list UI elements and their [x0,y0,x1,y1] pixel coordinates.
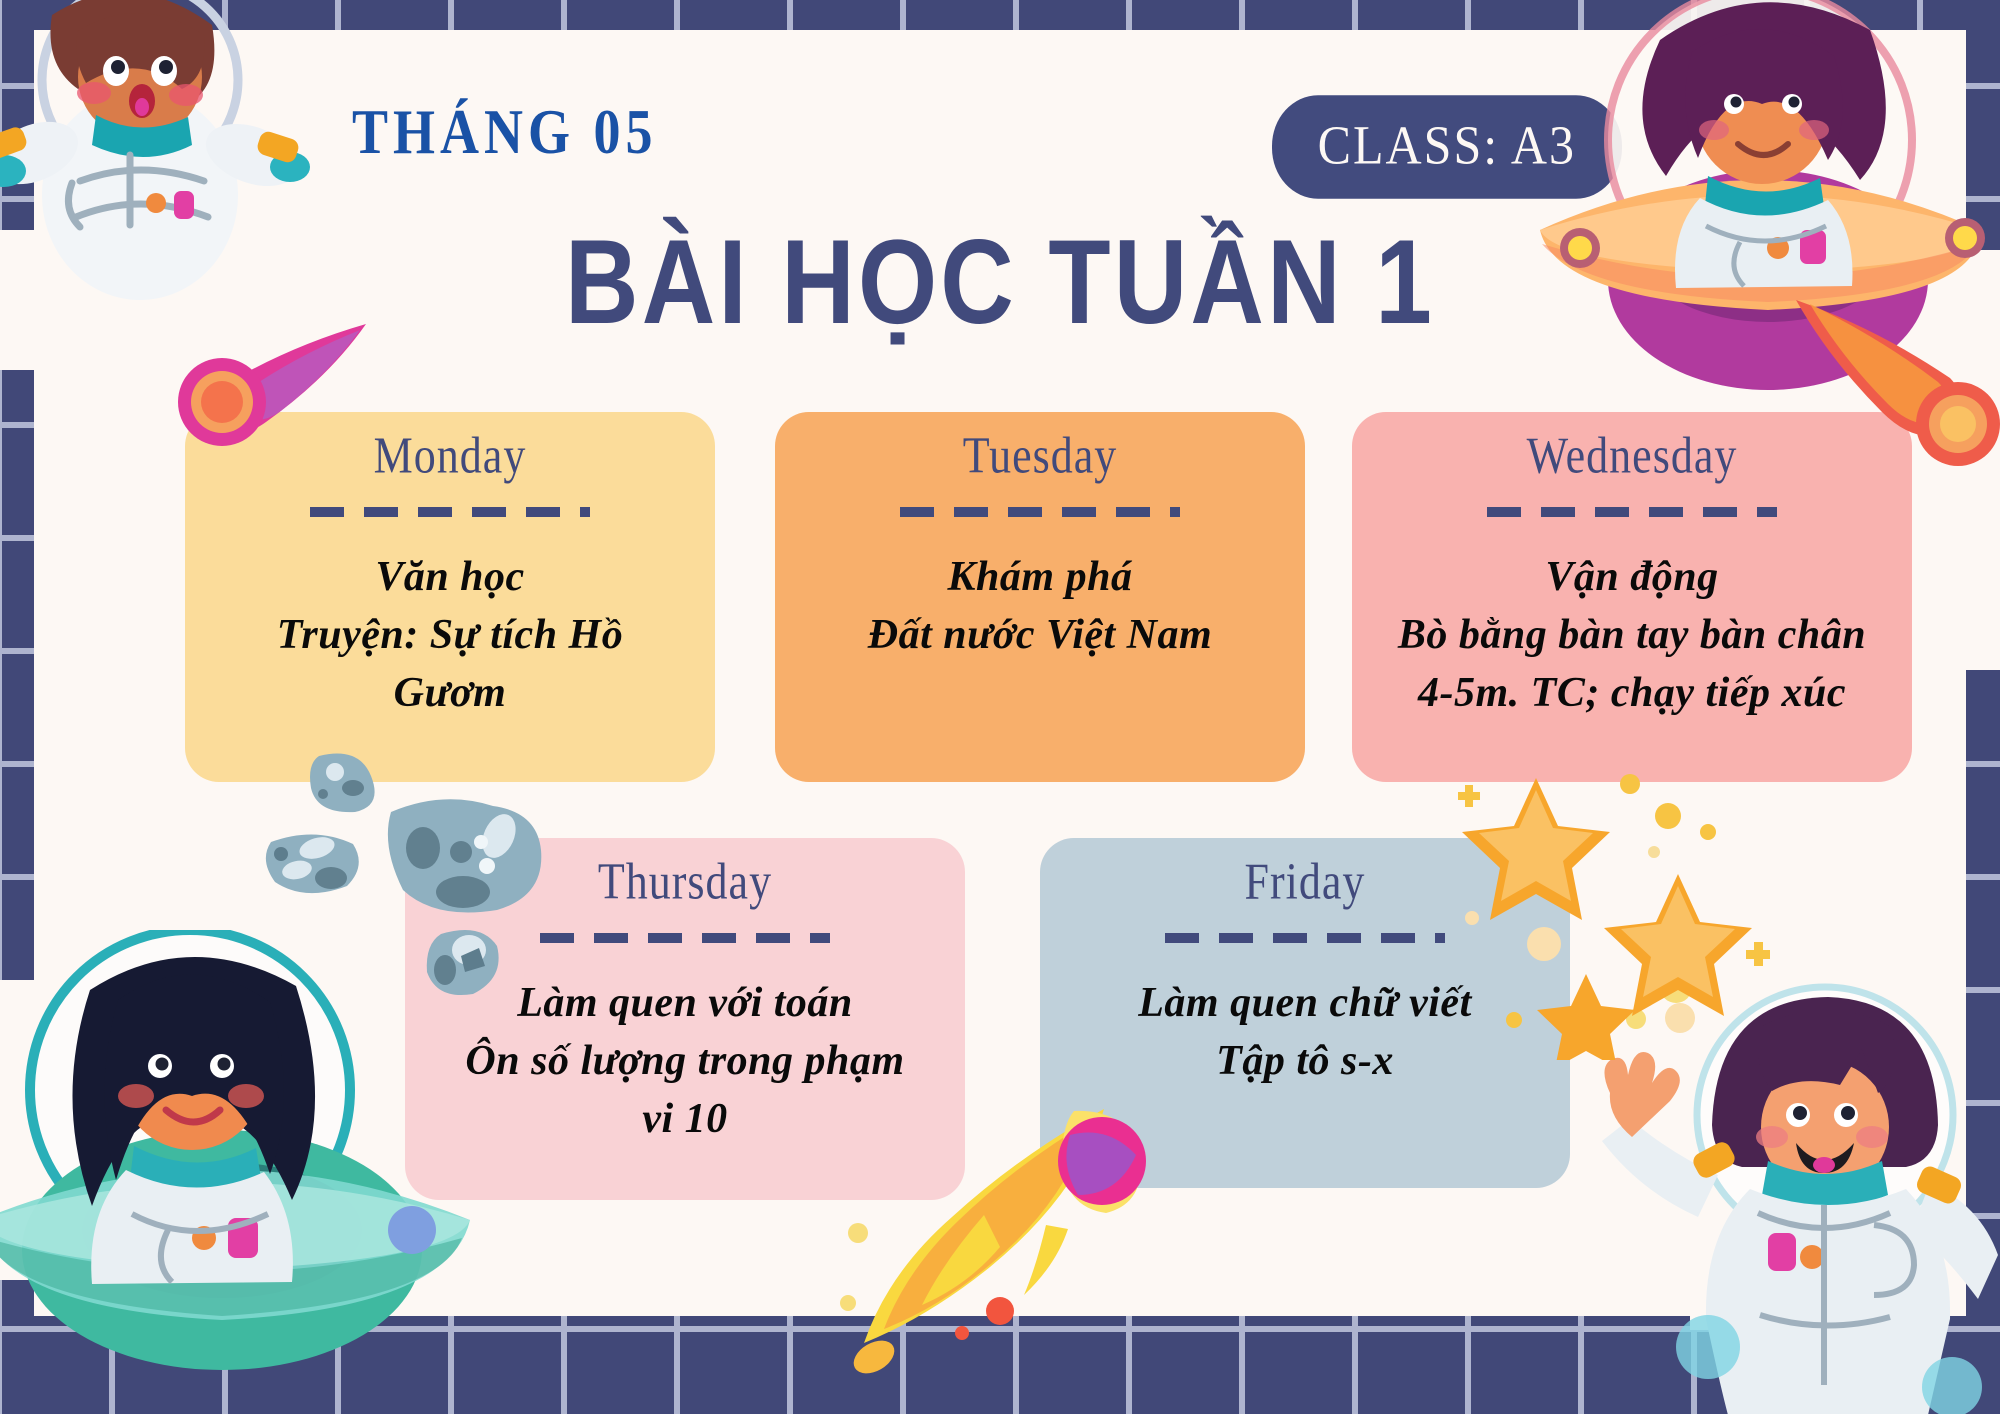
day-label-thursday: Thursday [598,851,772,911]
day-content-monday: Văn học Truyện: Sự tích Hồ Gươm [203,549,697,723]
page-title: BÀI HỌC TUẦN 1 [0,214,2000,352]
day-content-wednesday: Vận động Bò bằng bàn tay bàn chân 4-5m. … [1370,549,1894,723]
dashed-divider [900,507,1180,517]
day-card-wednesday[interactable]: Wednesday Vận động Bò bằng bàn tay bàn c… [1352,412,1912,782]
class-badge: CLASS: A3 [1272,95,1622,198]
month-label: THÁNG 05 [352,95,658,168]
day-content-thursday: Làm quen với toán Ôn số lượng trong phạm… [423,975,947,1149]
dashed-divider [1487,507,1777,517]
day-card-friday[interactable]: Friday Làm quen chữ viết Tập tô s-x [1040,838,1570,1188]
poster-canvas: THÁNG 05 CLASS: A3 BÀI HỌC TUẦN 1 Monday… [0,0,2000,1414]
day-label-monday: Monday [374,425,527,485]
day-card-monday[interactable]: Monday Văn học Truyện: Sự tích Hồ Gươm [185,412,715,782]
day-content-friday: Làm quen chữ viết Tập tô s-x [1058,975,1552,1091]
day-card-thursday[interactable]: Thursday Làm quen với toán Ôn số lượng t… [405,838,965,1200]
dashed-divider [310,507,590,517]
dashed-divider [1165,933,1445,943]
day-label-tuesday: Tuesday [963,425,1118,485]
day-label-wednesday: Wednesday [1527,425,1738,485]
page-bleed-bottom-left [0,980,90,1280]
day-label-friday: Friday [1245,851,1366,911]
dashed-divider [540,933,830,943]
page-bleed-bottom-right [1690,1230,1810,1330]
day-content-tuesday: Khám phá Đất nước Việt Nam [793,549,1287,665]
day-card-tuesday[interactable]: Tuesday Khám phá Đất nước Việt Nam [775,412,1305,782]
